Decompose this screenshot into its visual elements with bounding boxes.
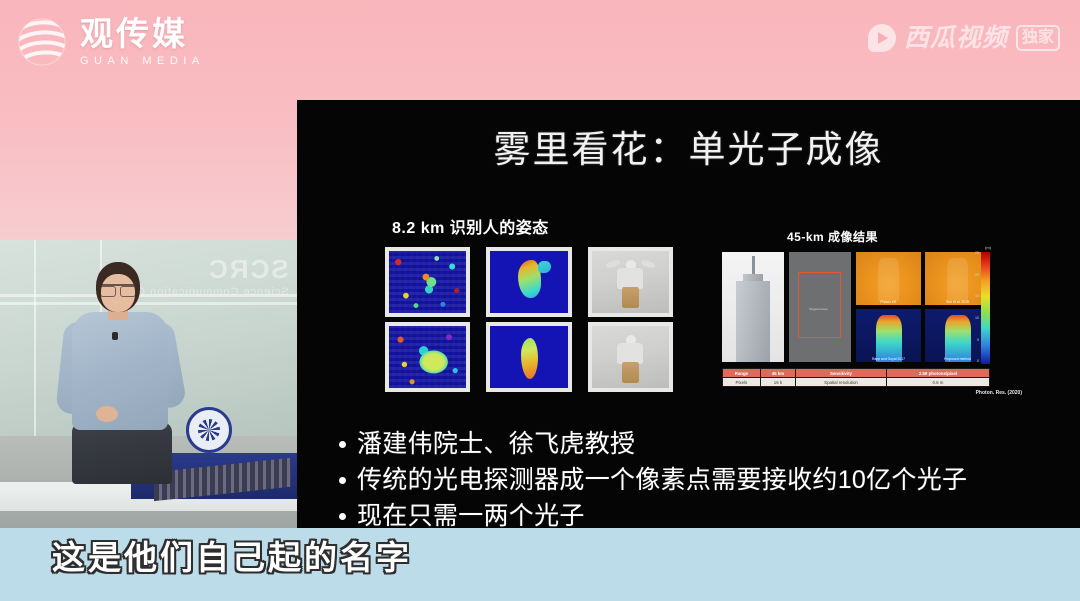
- bullet-text: 现在只需一两个光子: [357, 500, 585, 528]
- colorbar-tick: 25: [975, 252, 979, 256]
- bullet-dot-icon: [339, 477, 346, 484]
- figure-column-photo: [588, 247, 673, 392]
- play-bubble-icon: [868, 24, 896, 52]
- table-cell: Range: [723, 369, 761, 378]
- table-cell: 2.59 photons/pixel: [886, 369, 989, 378]
- table-row: Pixels 16 k Spatial resolution 0.6 m: [723, 378, 990, 387]
- reference-photo-image: [592, 326, 669, 388]
- specs-table: Range 45 km Sensitivity 2.59 photons/pix…: [722, 368, 990, 387]
- bullet-text: 传统的光电探测器成一个像素点需要接收约10亿个光子: [357, 464, 967, 497]
- table-cell: 16 k: [760, 378, 795, 387]
- list-item: 潘建伟院士、徐飞虎教授: [339, 428, 1062, 461]
- denoised-depth-map-image: [490, 251, 567, 313]
- roi-label: Targeted area: [798, 307, 839, 311]
- figure-cell: [486, 322, 571, 392]
- table-row: Range 45 km Sensitivity 2.59 photons/pix…: [723, 369, 990, 378]
- bullet-dot-icon: [339, 513, 346, 520]
- noisy-depth-map-image: [389, 251, 466, 313]
- reference-photo-image: [592, 251, 669, 313]
- colorbar-unit: (m): [985, 245, 991, 250]
- list-item: 现在只需一两个光子: [339, 500, 1062, 528]
- bullet-text: 潘建伟院士、徐飞虎教授: [357, 428, 635, 461]
- figure-cell: [385, 322, 470, 392]
- slide-title: 雾里看花：单光子成像: [297, 128, 1080, 172]
- table-cell: 45 km: [760, 369, 795, 378]
- noisy-depth-map-image: [389, 326, 466, 388]
- roi-rectangle: [798, 272, 841, 338]
- right-figure-caption: 45-km 成像结果: [787, 228, 878, 245]
- figure-column-denoised: [486, 247, 571, 392]
- colorbar-ticks: 25 20 15 10 5 0: [969, 252, 979, 364]
- speaker-video-inset: SCRC Science Communication Center: [0, 240, 297, 528]
- slide-bullet-list: 潘建伟院士、徐飞虎教授 传统的光电探测器成一个像素点需要接收约10亿个光子 现在…: [339, 428, 1062, 528]
- figure-cell: [588, 247, 673, 317]
- table-cell: 0.6 m: [886, 378, 989, 387]
- channel-name-cn: 观传媒: [80, 16, 205, 52]
- platform-watermark: 西瓜视频 独家: [868, 24, 1060, 52]
- figure-cell: [385, 247, 470, 317]
- channel-logo: 观传媒 GUAN MEDIA: [14, 14, 205, 70]
- bullet-dot-icon: [339, 441, 346, 448]
- left-figure: [385, 247, 673, 392]
- right-figure-panels: Targeted area Photon eff. Sun et al. 201…: [722, 252, 990, 362]
- scene-overview-panel: Targeted area: [789, 252, 851, 362]
- depth-colorbar: (m): [981, 252, 990, 364]
- figure-column-noisy: [385, 247, 470, 392]
- globe-stripes-icon: [14, 14, 70, 70]
- result-panel: Rapp and Goyal 2017: [856, 309, 921, 362]
- platform-name: 西瓜视频: [904, 25, 1008, 52]
- building-photo: [722, 252, 784, 362]
- institute-emblem-icon: [186, 407, 232, 453]
- denoised-depth-map-image: [490, 326, 567, 388]
- table-cell: Sensitivity: [796, 369, 887, 378]
- channel-name-en: GUAN MEDIA: [80, 54, 205, 68]
- result-panel-label: Rapp and Goyal 2017: [856, 357, 921, 361]
- table-cell: Pixels: [723, 378, 761, 387]
- table-cell: Spatial resolution: [796, 378, 887, 387]
- figure-cell: [486, 247, 571, 317]
- colorbar-tick: 15: [975, 295, 979, 299]
- colorbar-tick: 20: [975, 274, 979, 278]
- channel-logo-text: 观传媒 GUAN MEDIA: [80, 16, 205, 68]
- colorbar-tick: 0: [977, 360, 979, 364]
- glass-divider: [0, 302, 297, 305]
- colorbar-tick: 5: [977, 339, 979, 343]
- colorbar-tick: 10: [975, 317, 979, 321]
- right-figure: Targeted area Photon eff. Sun et al. 201…: [722, 252, 1022, 402]
- list-item: 传统的光电探测器成一个像素点需要接收约10亿个光子: [339, 464, 1062, 497]
- left-figure-caption: 8.2 km 识别人的姿态: [392, 214, 549, 238]
- result-panel: Photon eff.: [856, 252, 921, 305]
- glasses-icon: [100, 284, 136, 295]
- result-panel-label: Photon eff.: [856, 300, 921, 304]
- video-player-frame: 观传媒 GUAN MEDIA 西瓜视频 独家 雾里看花：单光子成像 8.2 km…: [0, 0, 1080, 601]
- figure-cell: [588, 322, 673, 392]
- figure-credit: Photon. Res. (2020): [976, 390, 1022, 396]
- exclusive-badge: 独家: [1016, 25, 1060, 51]
- presentation-slide: 雾里看花：单光子成像 8.2 km 识别人的姿态: [297, 100, 1080, 528]
- subtitle-text: 这是他们自己起的名字: [0, 533, 1080, 583]
- wall-logo-text: SCRC: [207, 254, 289, 285]
- lapel-mic-icon: [112, 332, 118, 340]
